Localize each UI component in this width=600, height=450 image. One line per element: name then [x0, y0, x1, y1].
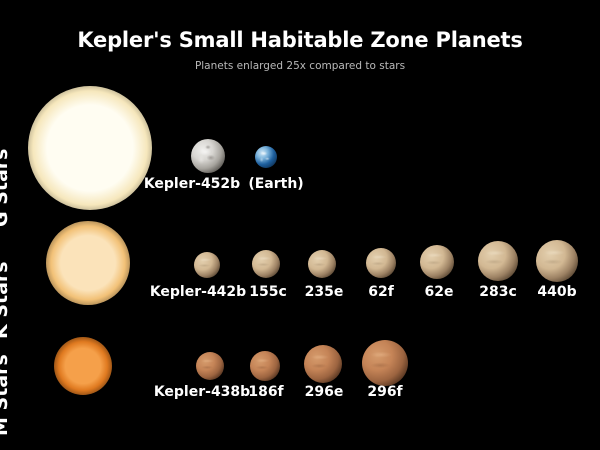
planet-label-235e: 235e: [305, 284, 344, 300]
planet-label-440b: 440b: [537, 284, 576, 300]
planet-surface-texture: [255, 146, 277, 168]
planet-label-62f: 62f: [368, 284, 394, 300]
planet-kepler-442b: [194, 252, 220, 278]
planet-surface-texture: [308, 250, 336, 278]
planet-62f: [366, 248, 396, 278]
planet-surface-texture: [250, 351, 280, 381]
row-label-m-stars: M Stars: [0, 354, 12, 436]
planet-label-kepler-452b: Kepler-452b: [144, 176, 240, 192]
planet-surface-texture: [366, 248, 396, 278]
planet-label-296e: 296e: [305, 384, 344, 400]
planet-283c: [478, 241, 518, 281]
k-star: [46, 221, 130, 305]
kepler-habitable-zone-infographic: Kepler's Small Habitable Zone Planets Pl…: [0, 0, 600, 450]
planet-235e: [308, 250, 336, 278]
planet-surface-texture: [420, 245, 454, 279]
planet-186f: [250, 351, 280, 381]
row-label-k-stars: K Stars: [0, 261, 12, 339]
m-star: [54, 337, 112, 395]
planet-surface-texture: [196, 352, 224, 380]
g-star: [28, 86, 152, 210]
planet-296f: [362, 340, 408, 386]
planet-surface-texture: [304, 345, 342, 383]
planet-62e: [420, 245, 454, 279]
planet-440b: [536, 240, 578, 282]
planet-surface-texture: [252, 250, 280, 278]
planet-296e: [304, 345, 342, 383]
planet-surface-texture: [478, 241, 518, 281]
planet-surface-texture: [191, 139, 225, 173]
planet-surface-texture: [536, 240, 578, 282]
page-subtitle: Planets enlarged 25x compared to stars: [0, 60, 600, 72]
planet-label-155c: 155c: [249, 284, 287, 300]
planet-label-kepler-438b: Kepler-438b: [154, 384, 250, 400]
planet-155c: [252, 250, 280, 278]
planet-surface-texture: [362, 340, 408, 386]
planet-surface-texture: [194, 252, 220, 278]
planet-kepler-452b: [191, 139, 225, 173]
planet-label-186f: 186f: [248, 384, 283, 400]
planet-earth: [255, 146, 277, 168]
planet-label-283c: 283c: [479, 284, 517, 300]
page-title: Kepler's Small Habitable Zone Planets: [0, 28, 600, 52]
planet-kepler-438b: [196, 352, 224, 380]
planet-label-62e: 62e: [425, 284, 454, 300]
row-label-g-stars: G Stars: [0, 149, 12, 227]
planet-label-earth: (Earth): [248, 176, 303, 192]
planet-label-296f: 296f: [367, 384, 402, 400]
planet-label-kepler-442b: Kepler-442b: [150, 284, 246, 300]
